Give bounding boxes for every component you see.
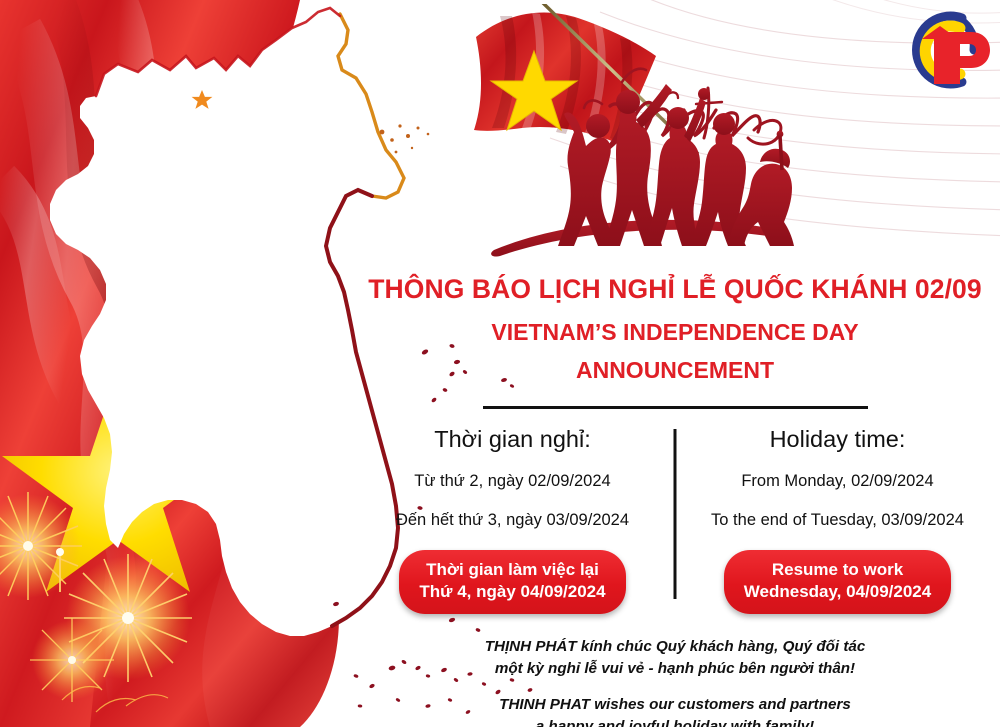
- vi-start-date: Từ thứ 2, ngày 02/09/2024: [356, 453, 669, 492]
- announcement-content: THÔNG BÁO LỊCH NGHỈ LỄ QUỐC KHÁNH 02/09 …: [350, 262, 1000, 727]
- vi-resume-label: Thời gian làm việc lại: [419, 559, 605, 582]
- tp-company-logo[interactable]: [874, 6, 992, 98]
- vi-resume-pill[interactable]: Thời gian làm việc lại Thứ 4, ngày 04/09…: [399, 550, 625, 614]
- column-divider: [674, 429, 677, 599]
- wish-vi-line1: THỊNH PHÁT kính chúc Quý khách hàng, Quý…: [350, 636, 1000, 658]
- independence-day-poster: THÔNG BÁO LỊCH NGHỈ LỄ QUỐC KHÁNH 02/09 …: [0, 0, 1000, 727]
- headline-english-line1: VIETNAM’S INDEPENDENCE DAY: [350, 303, 1000, 349]
- en-end-date: To the end of Tuesday, 03/09/2024: [681, 492, 994, 531]
- header-divider: [483, 406, 868, 409]
- en-resume-label: Resume to work: [744, 559, 931, 582]
- en-start-date: From Monday, 02/09/2024: [681, 453, 994, 492]
- headline-vietnamese: THÔNG BÁO LỊCH NGHỈ LỄ QUỐC KHÁNH 02/09: [350, 262, 1000, 303]
- vi-resume-date: Thứ 4, ngày 04/09/2024: [419, 581, 605, 604]
- closing-wishes: THỊNH PHÁT kính chúc Quý khách hàng, Quý…: [350, 636, 1000, 727]
- en-resume-pill[interactable]: Resume to work Wednesday, 04/09/2024: [724, 550, 951, 614]
- headline-english-line2: ANNOUNCEMENT: [350, 348, 1000, 387]
- wish-en-line1: THINH PHAT wishes our customers and part…: [350, 694, 1000, 716]
- en-resume-date: Wednesday, 04/09/2024: [744, 581, 931, 604]
- wish-en-line2: a happy and joyful holiday with family!: [350, 716, 1000, 727]
- vi-column-title: Thời gian nghỉ:: [356, 419, 669, 453]
- wish-vi-line2: một kỳ nghỉ lễ vui vẻ - hạnh phúc bên ng…: [350, 658, 1000, 680]
- vi-end-date: Đến hết thứ 3, ngày 03/09/2024: [356, 492, 669, 531]
- en-column-title: Holiday time:: [681, 419, 994, 453]
- holiday-columns: Thời gian nghỉ: Từ thứ 2, ngày 02/09/202…: [350, 419, 1000, 614]
- flag-crowd-illustration: [470, 4, 800, 262]
- column-english: Holiday time: From Monday, 02/09/2024 To…: [675, 419, 1000, 614]
- column-vietnamese: Thời gian nghỉ: Từ thứ 2, ngày 02/09/202…: [350, 419, 675, 614]
